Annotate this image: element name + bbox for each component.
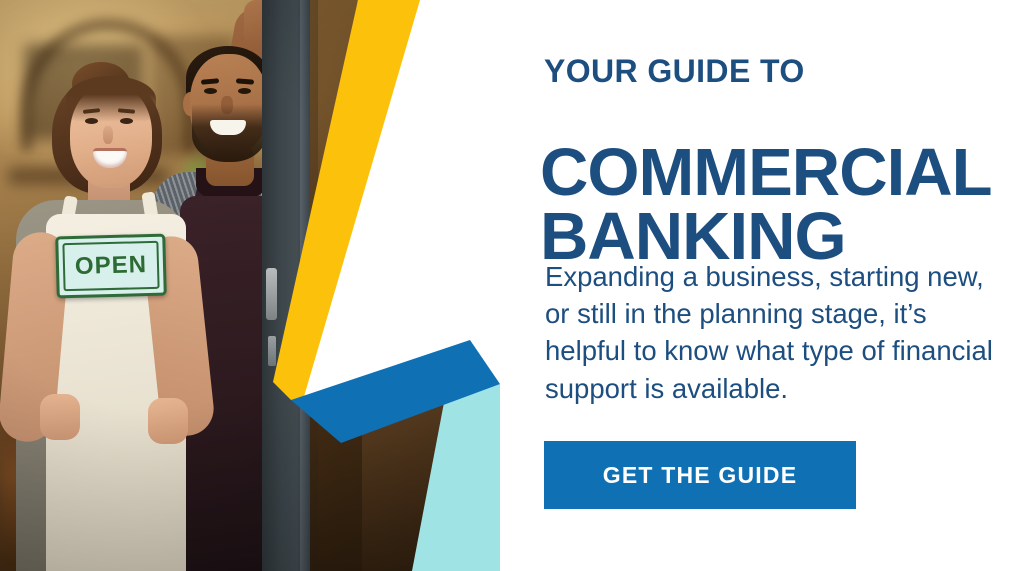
door-handle (266, 268, 277, 320)
open-sign-text: OPEN (75, 251, 148, 281)
woman-eye (120, 118, 133, 124)
get-the-guide-button[interactable]: GET THE GUIDE (544, 441, 856, 509)
content-panel: YOUR GUIDE TO COMMERCIAL BANKING Expandi… (544, 0, 1004, 571)
woman-hairline (66, 76, 156, 122)
subcopy-text: Expanding a business, starting new, or s… (545, 258, 995, 408)
open-sign: OPEN (55, 234, 167, 299)
man-eye (204, 88, 217, 94)
open-door-panel (310, 0, 362, 571)
woman-nose (103, 126, 113, 144)
woman-hand (40, 394, 80, 440)
man-smile (210, 120, 246, 135)
man-eye (238, 88, 251, 94)
woman-hand (148, 398, 188, 444)
page-title: COMMERCIAL BANKING (540, 141, 992, 268)
woman-eye (85, 118, 98, 124)
door-lock (268, 336, 276, 366)
eyebrow-text: YOUR GUIDE TO (544, 55, 805, 87)
hero-photo: OPEN (0, 0, 500, 571)
door-edge (300, 0, 310, 571)
open-sign-inner-border: OPEN (62, 241, 159, 291)
promo-banner: OPEN YOUR GUIDE TO (0, 0, 1024, 571)
